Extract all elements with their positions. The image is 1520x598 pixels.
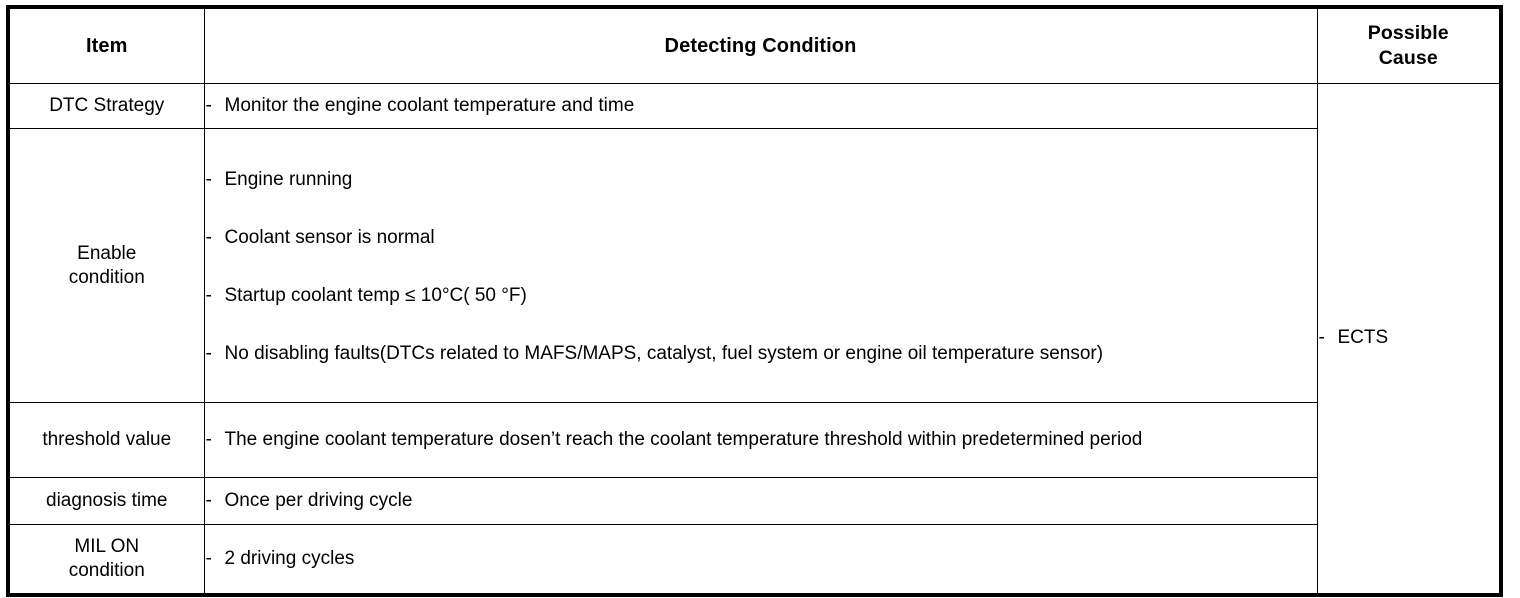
- bullet-list-diagnosis-time: - Once per driving cycle: [205, 489, 1317, 513]
- bullet-dash-icon: -: [206, 94, 212, 118]
- row-label-line2: condition: [10, 266, 204, 290]
- row-content-enable-condition: - Engine running - Coolant sensor is nor…: [204, 129, 1317, 403]
- bullet-text: Once per driving cycle: [225, 489, 1317, 513]
- row-label-diagnosis-time: diagnosis time: [8, 478, 204, 525]
- table-row-threshold-value: threshold value - The engine coolant tem…: [8, 403, 1501, 478]
- bullet-text: Coolant sensor is normal: [225, 226, 1317, 250]
- list-item: - 2 driving cycles: [205, 547, 1317, 571]
- bullet-dash-icon: -: [1319, 326, 1325, 350]
- row-label-line2: condition: [10, 559, 204, 583]
- document-page: Item Detecting Condition Possible Cause …: [0, 0, 1520, 598]
- row-label-line1: Enable: [10, 242, 204, 266]
- bullet-dash-icon: -: [206, 489, 212, 513]
- table-row-dtc-strategy: DTC Strategy - Monitor the engine coolan…: [8, 84, 1501, 129]
- bullet-text: 2 driving cycles: [225, 547, 1317, 571]
- table-row-mil-on-condition: MIL ON condition - 2 driving cycles: [8, 525, 1501, 595]
- column-header-possible-cause: Possible Cause: [1317, 7, 1501, 84]
- bullet-text: Monitor the engine coolant temperature a…: [225, 94, 1317, 118]
- table-row-enable-condition: Enable condition - Engine running - Cool…: [8, 129, 1501, 403]
- row-content-diagnosis-time: - Once per driving cycle: [204, 478, 1317, 525]
- row-label-line1: MIL ON: [10, 535, 204, 559]
- row-label-enable-condition: Enable condition: [8, 129, 204, 403]
- list-item: - No disabling faults(DTCs related to MA…: [205, 342, 1317, 366]
- list-item: - Monitor the engine coolant temperature…: [205, 94, 1317, 118]
- bullet-text: The engine coolant temperature dosen’t r…: [225, 428, 1317, 452]
- bullet-list-threshold-value: - The engine coolant temperature dosen’t…: [205, 428, 1317, 452]
- row-label-dtc-strategy: DTC Strategy: [8, 84, 204, 129]
- table-header-row: Item Detecting Condition Possible Cause: [8, 7, 1501, 84]
- list-item: - Once per driving cycle: [205, 489, 1317, 513]
- row-label-threshold-value: threshold value: [8, 403, 204, 478]
- bullet-dash-icon: -: [206, 547, 212, 571]
- list-item: - Engine running: [205, 168, 1317, 192]
- bullet-dash-icon: -: [206, 284, 212, 308]
- table-row-diagnosis-time: diagnosis time - Once per driving cycle: [8, 478, 1501, 525]
- column-header-detecting-condition: Detecting Condition: [204, 7, 1317, 84]
- list-item: - Startup coolant temp ≤ 10°C( 50 °F): [205, 284, 1317, 308]
- list-item: - Coolant sensor is normal: [205, 226, 1317, 250]
- row-content-mil-on-condition: - 2 driving cycles: [204, 525, 1317, 595]
- bullet-dash-icon: -: [206, 342, 212, 366]
- possible-cause-cell: - ECTS: [1317, 84, 1501, 595]
- bullet-list-dtc-strategy: - Monitor the engine coolant temperature…: [205, 94, 1317, 118]
- bullet-dash-icon: -: [206, 226, 212, 250]
- list-item: - The engine coolant temperature dosen’t…: [205, 428, 1317, 452]
- column-header-possible-cause-line1: Possible: [1318, 21, 1500, 46]
- bullet-dash-icon: -: [206, 168, 212, 192]
- dtc-detecting-condition-table: Item Detecting Condition Possible Cause …: [6, 5, 1503, 597]
- bullet-list-enable-condition: - Engine running - Coolant sensor is nor…: [205, 166, 1317, 366]
- bullet-list-mil-on-condition: - 2 driving cycles: [205, 547, 1317, 571]
- row-label-mil-on-condition: MIL ON condition: [8, 525, 204, 595]
- bullet-text: Startup coolant temp ≤ 10°C( 50 °F): [225, 284, 1317, 308]
- possible-cause-content: - ECTS: [1318, 326, 1500, 350]
- bullet-dash-icon: -: [206, 428, 212, 452]
- bullet-text: No disabling faults(DTCs related to MAFS…: [225, 342, 1317, 366]
- possible-cause-text: ECTS: [1338, 327, 1389, 348]
- row-content-dtc-strategy: - Monitor the engine coolant temperature…: [204, 84, 1317, 129]
- bullet-text: Engine running: [225, 168, 1317, 192]
- column-header-item: Item: [8, 7, 204, 84]
- column-header-possible-cause-line2: Cause: [1318, 46, 1500, 71]
- row-content-threshold-value: - The engine coolant temperature dosen’t…: [204, 403, 1317, 478]
